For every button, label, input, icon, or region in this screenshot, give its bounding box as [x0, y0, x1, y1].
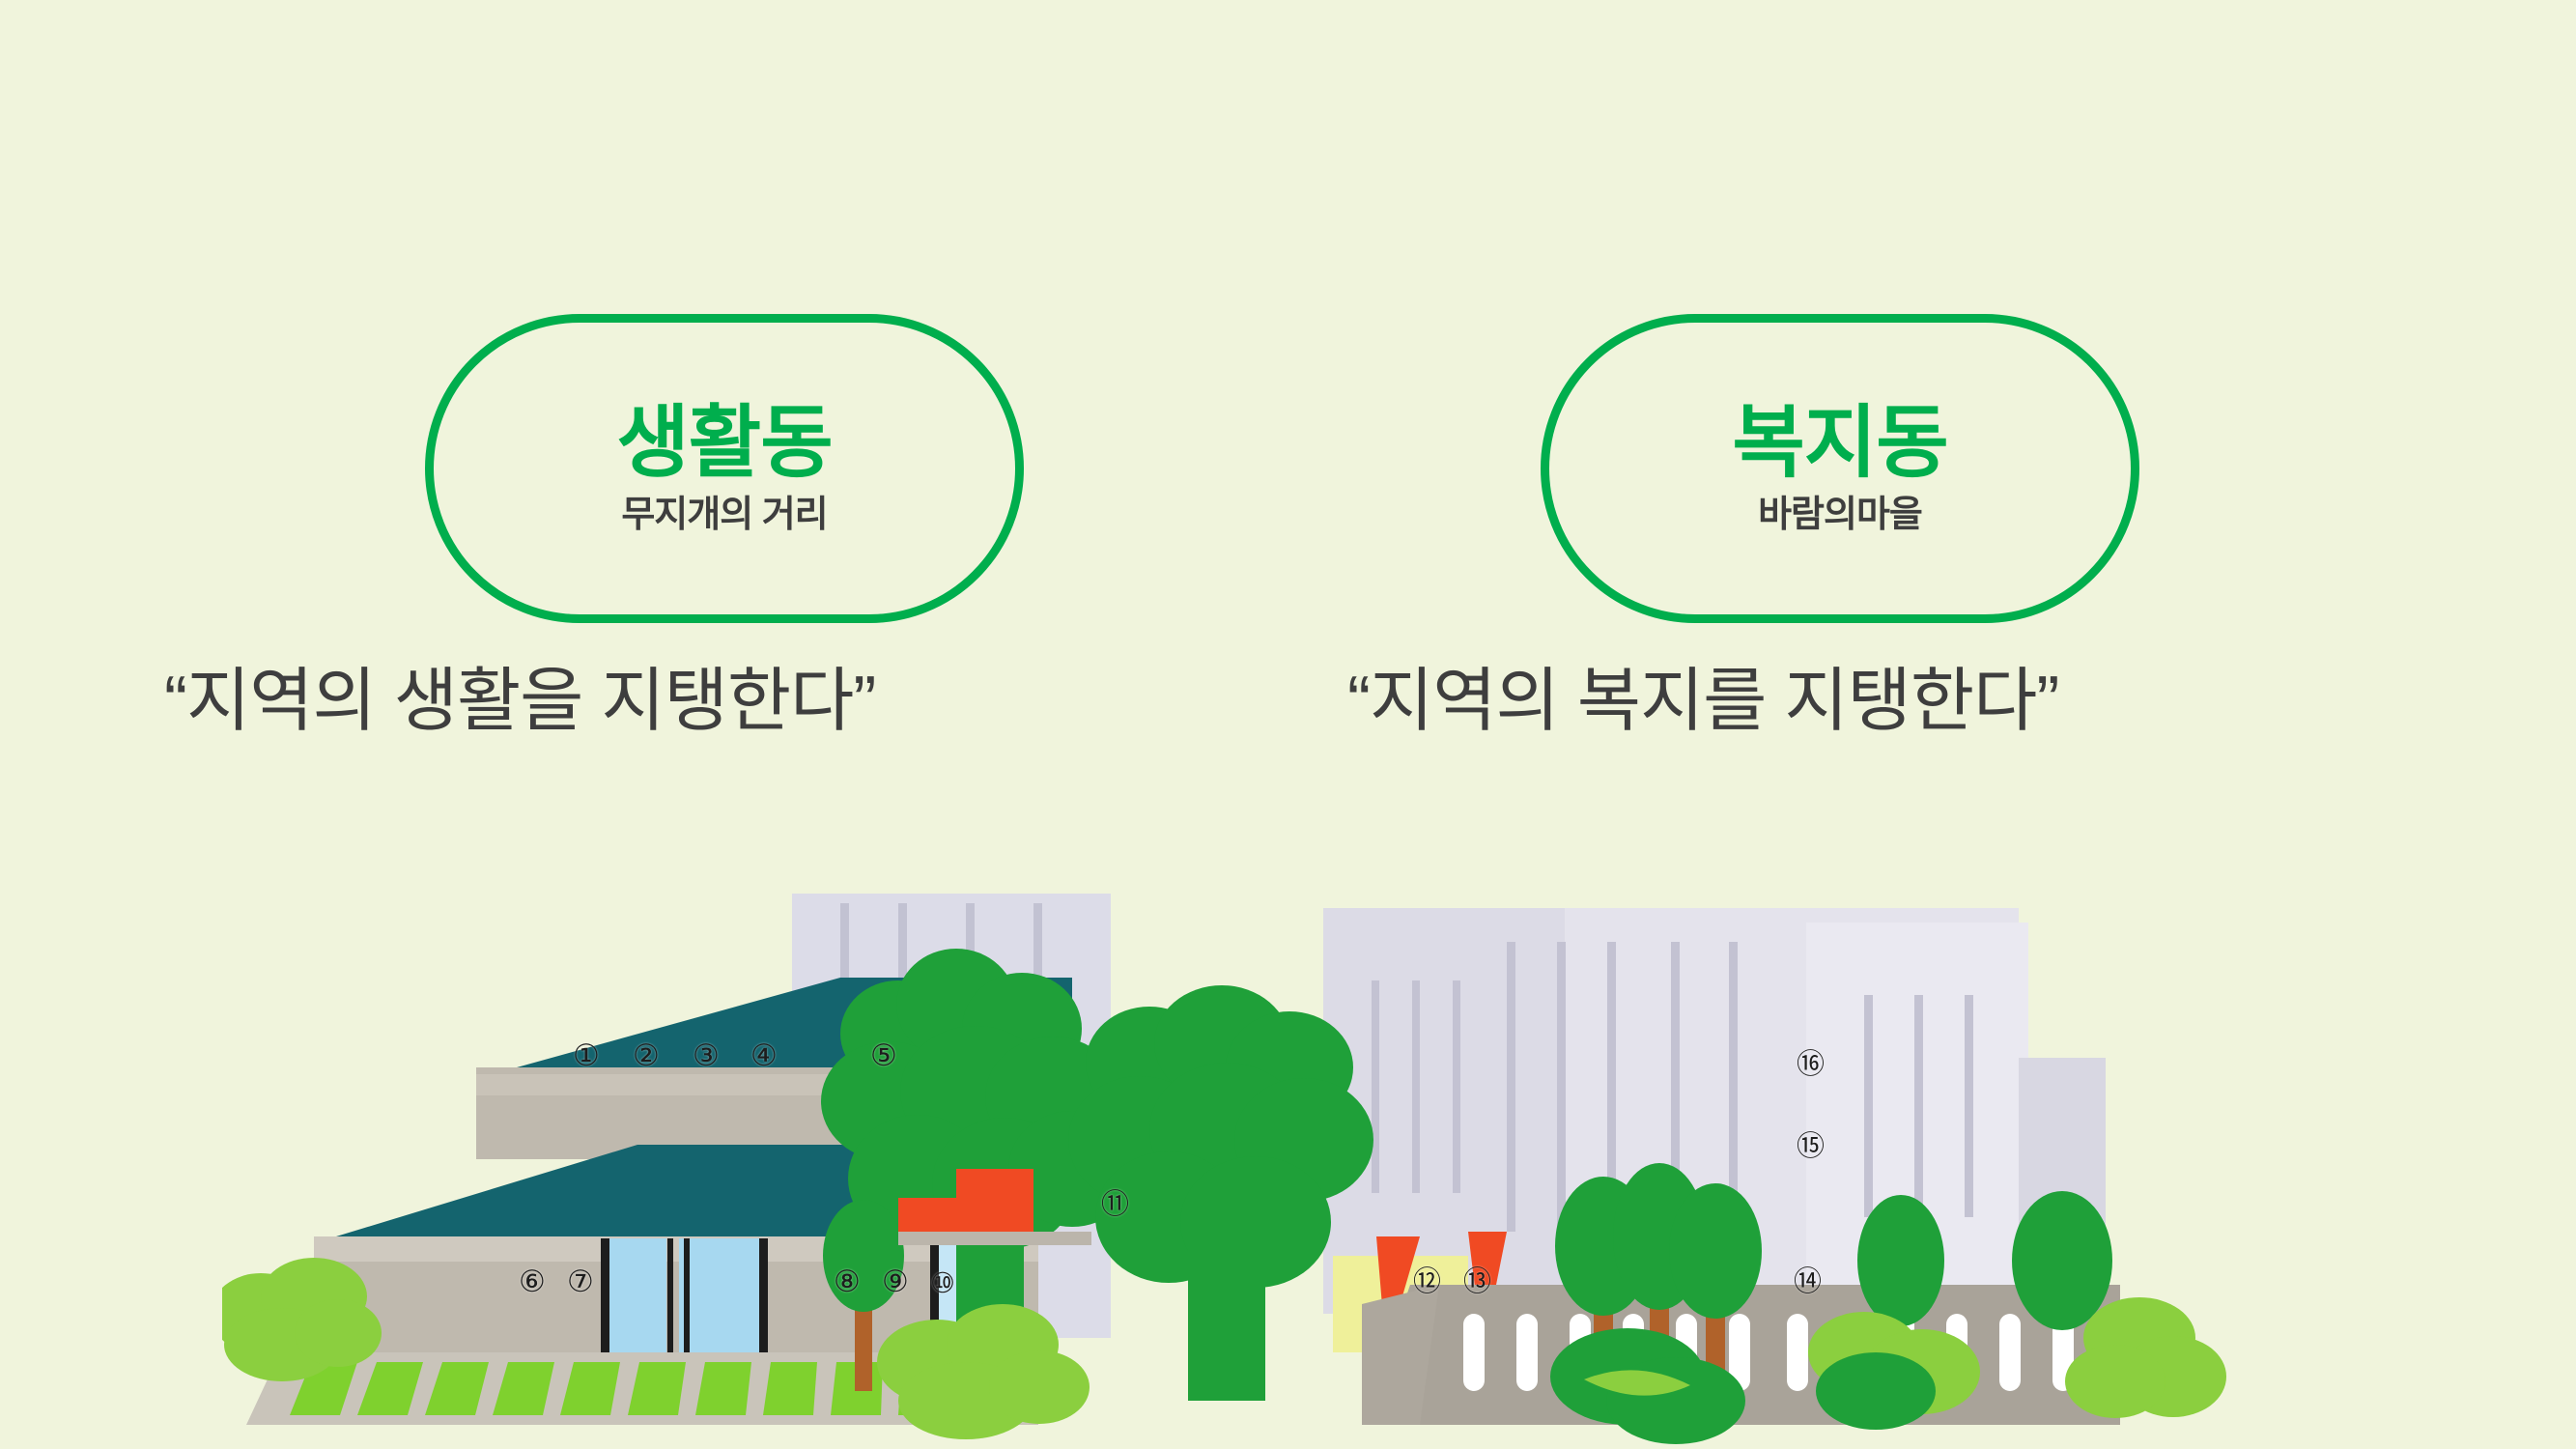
marker-3[interactable]: ③ — [693, 1041, 720, 1071]
illustration-artwork — [222, 850, 2231, 1449]
marker-16[interactable]: ⑯ — [1797, 1050, 1825, 1078]
caption-living: “지역의 생활을 지탱한다” — [164, 667, 875, 736]
left-window — [679, 1238, 761, 1352]
caption-welfare: “지역의 복지를 지탱한다” — [1347, 667, 2058, 736]
marker-7[interactable]: ⑦ — [567, 1267, 594, 1297]
tree-right-mid — [1857, 1195, 1944, 1326]
badge-living-wing[interactable]: 생활동 무지개의 거리 — [425, 314, 1024, 623]
marker-5[interactable]: ⑤ — [870, 1041, 897, 1071]
marker-6[interactable]: ⑥ — [519, 1267, 546, 1297]
marker-9[interactable]: ⑨ — [882, 1267, 909, 1297]
marker-10[interactable]: ⑩ — [930, 1269, 955, 1297]
marker-12[interactable]: ⑫ — [1413, 1267, 1441, 1295]
campus-illustration: ① ② ③ ④ ⑤ ⑥ ⑦ ⑧ ⑨ ⑩ ⑪ ⑫ ⑬ ⑭ ⑮ ⑯ — [222, 850, 2231, 1449]
marker-14[interactable]: ⑭ — [1794, 1267, 1822, 1295]
marker-4[interactable]: ④ — [750, 1041, 778, 1071]
marker-13[interactable]: ⑬ — [1463, 1267, 1491, 1295]
badge-title: 복지동 — [1732, 404, 1947, 483]
left-window — [609, 1238, 666, 1352]
badge-welfare-wing[interactable]: 복지동 바람의마을 — [1541, 314, 2139, 623]
marker-1[interactable]: ① — [573, 1041, 600, 1071]
badge-subtitle: 바람의마을 — [1758, 497, 1922, 533]
badge-subtitle: 무지개의 거리 — [621, 497, 827, 533]
marker-11[interactable]: ⑪ — [1101, 1190, 1129, 1218]
marker-15[interactable]: ⑮ — [1797, 1132, 1825, 1160]
tree-right-far — [2012, 1191, 2112, 1330]
marker-8[interactable]: ⑧ — [834, 1267, 861, 1297]
badge-title: 생활동 — [616, 404, 832, 483]
bush-left — [222, 1258, 382, 1381]
marker-2[interactable]: ② — [633, 1041, 660, 1071]
slide-canvas: 생활동 무지개의 거리 복지동 바람의마을 “지역의 생활을 지탱한다” “지역… — [0, 0, 2576, 1449]
